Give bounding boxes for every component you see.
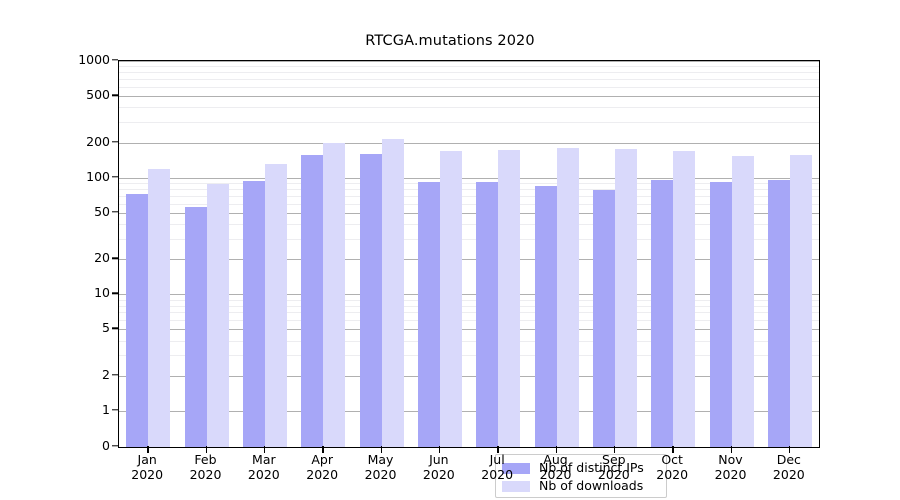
chart-title: RTCGA.mutations 2020 xyxy=(0,33,900,49)
bar-downloads xyxy=(557,148,579,447)
y-tick-mark xyxy=(112,141,119,142)
bar-distinct-ips xyxy=(185,207,207,447)
bar-distinct-ips xyxy=(243,181,265,447)
y-tick-mark xyxy=(112,59,119,60)
bar-distinct-ips xyxy=(360,154,382,447)
y-tick-label: 2 xyxy=(58,369,110,382)
y-axis-tick-labels: 10005002001005020105210 xyxy=(58,60,110,446)
y-tick-label: 200 xyxy=(58,135,110,148)
y-tick-mark xyxy=(112,409,119,410)
bar-distinct-ips xyxy=(710,182,732,447)
y-tick-mark xyxy=(112,374,119,375)
y-tick-mark xyxy=(112,258,119,259)
y-tick-mark xyxy=(112,211,119,212)
bars-layer xyxy=(119,61,819,447)
bar-distinct-ips xyxy=(476,182,498,447)
bar-downloads xyxy=(265,164,287,447)
bar-downloads xyxy=(323,143,345,447)
y-tick-label: 20 xyxy=(58,252,110,265)
bar-downloads xyxy=(440,151,462,447)
y-tick-label: 1 xyxy=(58,404,110,417)
plot-area: Nb of distinct IPs Nb of downloads xyxy=(118,60,820,448)
y-tick-label: 50 xyxy=(58,206,110,219)
bar-downloads xyxy=(673,151,695,447)
bar-downloads xyxy=(207,184,229,447)
bar-downloads xyxy=(615,149,637,447)
x-tick-label: Dec2020 xyxy=(749,452,829,482)
y-tick-label: 100 xyxy=(58,170,110,183)
y-tick-mark xyxy=(112,445,119,446)
x-tick-month: Dec xyxy=(749,452,829,467)
bar-distinct-ips xyxy=(126,194,148,447)
bar-downloads xyxy=(382,139,404,447)
y-tick-label: 10 xyxy=(58,287,110,300)
bar-downloads xyxy=(148,169,170,447)
x-tick-year: 2020 xyxy=(749,467,829,482)
y-tick-mark xyxy=(112,328,119,329)
bar-downloads xyxy=(498,150,520,447)
chart-figure: RTCGA.mutations 2020 1000500200100502010… xyxy=(0,0,900,500)
y-tick-mark xyxy=(112,176,119,177)
y-tick-mark xyxy=(112,293,119,294)
y-tick-label: 1000 xyxy=(58,54,110,67)
y-tick-mark xyxy=(112,94,119,95)
bar-distinct-ips xyxy=(593,190,615,447)
bar-downloads xyxy=(732,156,754,447)
y-tick-label: 500 xyxy=(58,89,110,102)
bar-downloads xyxy=(790,155,812,447)
bar-distinct-ips xyxy=(301,155,323,447)
bar-distinct-ips xyxy=(651,180,673,447)
y-tick-label: 5 xyxy=(58,322,110,335)
y-tick-label: 0 xyxy=(58,440,110,453)
bar-distinct-ips xyxy=(768,180,790,447)
bar-distinct-ips xyxy=(535,186,557,447)
legend-swatch-icon-1 xyxy=(502,481,530,492)
bar-distinct-ips xyxy=(418,182,440,447)
